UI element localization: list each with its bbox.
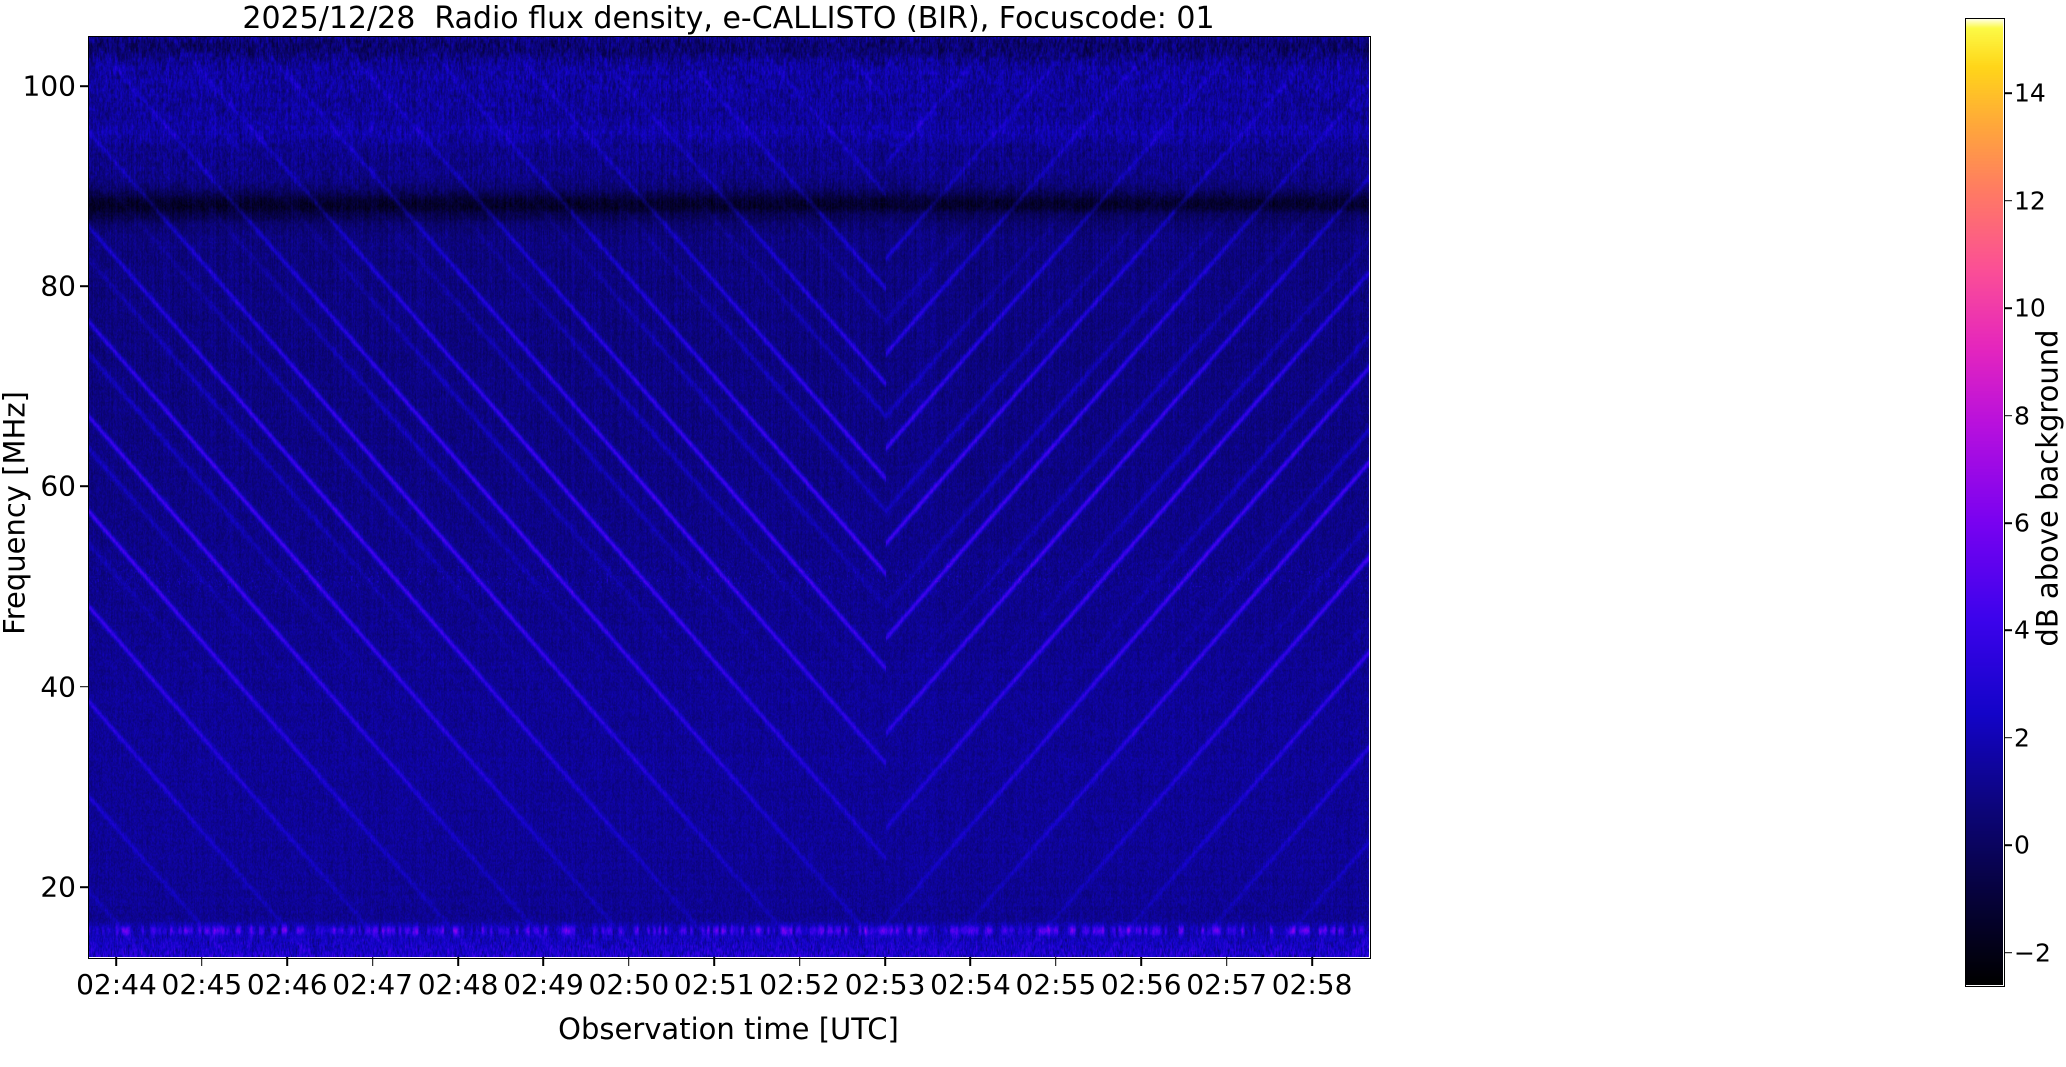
colorbar-tick-label: 4 xyxy=(2014,616,2030,645)
x-axis-tick-mark xyxy=(713,957,715,966)
colorbar-tick-mark xyxy=(2004,737,2012,739)
colorbar-tick-label: 0 xyxy=(2014,831,2030,860)
x-axis-tick-labels: 02:4402:4502:4602:4702:4802:4902:5002:51… xyxy=(88,968,1369,1006)
x-axis-tick-mark xyxy=(1226,957,1228,966)
colorbar-tick-mark xyxy=(2004,952,2012,954)
x-axis-tick-mark xyxy=(884,957,886,966)
x-axis-tick-mark xyxy=(1055,957,1057,966)
x-axis-tick-mark xyxy=(116,957,118,966)
colorbar-tick-mark xyxy=(2004,92,2012,94)
x-axis-tick-mark xyxy=(1140,957,1142,966)
x-axis-tick-mark xyxy=(201,957,203,966)
x-axis-tick-mark xyxy=(543,957,545,966)
x-axis-tick-mark xyxy=(799,957,801,966)
colorbar[interactable] xyxy=(1965,18,2003,985)
colorbar-tick-mark xyxy=(2004,415,2012,417)
colorbar-tick-label: 2 xyxy=(2014,723,2030,752)
y-axis-tick-mark xyxy=(80,686,88,688)
colorbar-tick-label: 6 xyxy=(2014,508,2030,537)
colorbar-tick-label: 8 xyxy=(2014,401,2030,430)
y-axis-tick-mark xyxy=(80,486,88,488)
page-title: 2025/12/28 Radio flux density, e-CALLIST… xyxy=(88,2,1369,36)
colorbar-label: dB above background xyxy=(2031,5,2065,972)
x-axis-tick-mark xyxy=(1311,957,1313,966)
x-axis-tick-mark xyxy=(286,957,288,966)
y-axis-tick-mark xyxy=(80,85,88,87)
colorbar-tick-mark xyxy=(2004,522,2012,524)
x-axis-label: Observation time [UTC] xyxy=(88,1012,1369,1046)
x-axis-tick-mark xyxy=(970,957,972,966)
x-axis-tick-mark xyxy=(457,957,459,966)
x-axis-tick-label: 02:58 xyxy=(1232,968,1392,1001)
y-axis-label: Frequency [MHz] xyxy=(0,53,32,974)
spectrogram-axes[interactable] xyxy=(88,36,1369,957)
x-axis-tick-mark xyxy=(628,957,630,966)
colorbar-tick-mark xyxy=(2004,307,2012,309)
colorbar-gradient xyxy=(1965,18,2003,985)
figure-canvas: 2025/12/28 Radio flux density, e-CALLIST… xyxy=(0,0,2066,1067)
y-axis-tick-mark xyxy=(80,285,88,287)
colorbar-tick-mark xyxy=(2004,630,2012,632)
x-axis-ticks xyxy=(88,957,1369,967)
colorbar-tick-mark xyxy=(2004,845,2012,847)
x-axis-tick-mark xyxy=(372,957,374,966)
spectrogram-image xyxy=(88,36,1369,957)
colorbar-tick-mark xyxy=(2004,200,2012,202)
y-axis-tick-mark xyxy=(80,886,88,888)
